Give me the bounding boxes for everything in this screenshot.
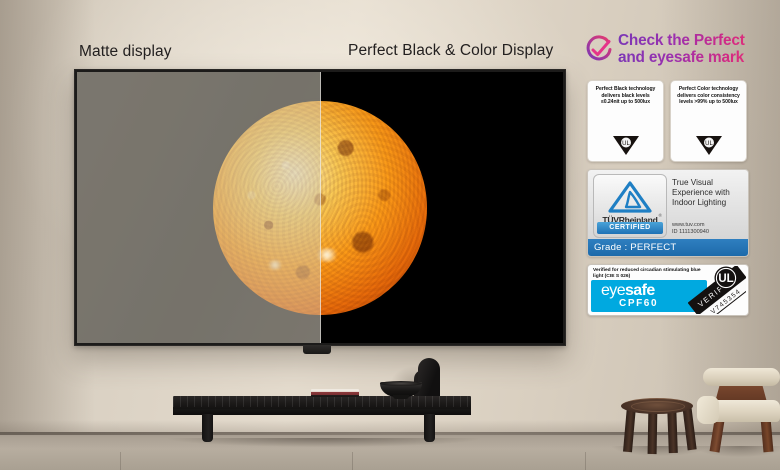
check-circle-icon (584, 35, 614, 65)
bench-leg (202, 414, 213, 442)
perfect-black-badge-text: Perfect Black technology delivers black … (592, 86, 659, 106)
label-perfect-display: Perfect Black & Color Display (348, 42, 553, 60)
stool-top-rings (631, 401, 685, 412)
tv-wall-mount (303, 345, 331, 354)
ul-verified-mark-icon: VERIFIED V745354 UL (688, 266, 746, 314)
armchair-backrest (703, 368, 780, 386)
armchair-armrest (697, 396, 719, 424)
svg-text:UL: UL (705, 141, 713, 147)
tuv-logo: TÜVRheinland ® CERTIFIED (593, 174, 667, 238)
tuv-id: ID 1111300940 (672, 229, 744, 236)
promo-headline: Check the Perfect and eyesafe mark (618, 32, 780, 67)
dark-sculpture (418, 358, 440, 398)
tuv-grade-bar: Grade : PERFECT (588, 239, 748, 256)
label-matte-display: Matte display (79, 43, 172, 61)
svg-text:UL: UL (622, 141, 630, 147)
black-bowl-foot (393, 395, 409, 399)
technology-badge-row: Perfect Black technology delivers black … (587, 80, 747, 162)
tuv-claim-text: True Visual Experience with Indoor Light… (672, 178, 744, 209)
floor-tile-seam (352, 452, 353, 470)
eyesafe-model: CPF60 (619, 298, 658, 309)
tuv-registered-mark: ® (659, 213, 662, 218)
comparison-divider (320, 72, 321, 343)
eyesafe-word-light: eye (601, 282, 625, 299)
television (74, 69, 566, 346)
promo-headline-line2: and eyesafe mark (618, 49, 780, 66)
bench-leg (424, 414, 435, 442)
tuv-url-and-id: www.tuv.com ID 1111300940 (672, 222, 744, 237)
book-stack (311, 389, 359, 397)
eyesafe-word-bold: safe (625, 282, 655, 299)
bench-slats (173, 396, 471, 407)
perfect-color-badge: Perfect Color technology delivers color … (670, 80, 747, 162)
tuv-certified-label: CERTIFIED (597, 222, 663, 234)
eyesafe-badge: Verified for reduced circadian stimulati… (587, 264, 749, 316)
perfect-black-badge: Perfect Black technology delivers black … (587, 80, 664, 162)
matte-greywash-overlay (77, 72, 320, 343)
scene: Matte display Perfect Black & Color Disp… (0, 0, 780, 470)
promo-header: Check the Perfect and eyesafe mark (584, 33, 780, 73)
certification-badges: Perfect Black technology delivers black … (587, 80, 747, 316)
ul-verified-arrow-icon: UL (611, 135, 641, 157)
ul-verified-arrow-icon: UL (694, 135, 724, 157)
tv-screen (77, 72, 563, 343)
svg-text:UL: UL (718, 273, 733, 285)
tuv-triangle-icon (606, 180, 654, 214)
floor-tile-seam (120, 452, 121, 470)
tuv-url: www.tuv.com (672, 222, 744, 229)
perfect-color-badge-text: Perfect Color technology delivers color … (675, 86, 742, 106)
black-bowl-rim (380, 381, 422, 386)
wall-floor-seam (0, 432, 780, 435)
promo-headline-line1: Check the Perfect (618, 32, 780, 49)
tuv-rheinland-badge: TÜVRheinland ® CERTIFIED True Visual Exp… (587, 169, 749, 257)
floor-tile-seam (585, 452, 586, 470)
